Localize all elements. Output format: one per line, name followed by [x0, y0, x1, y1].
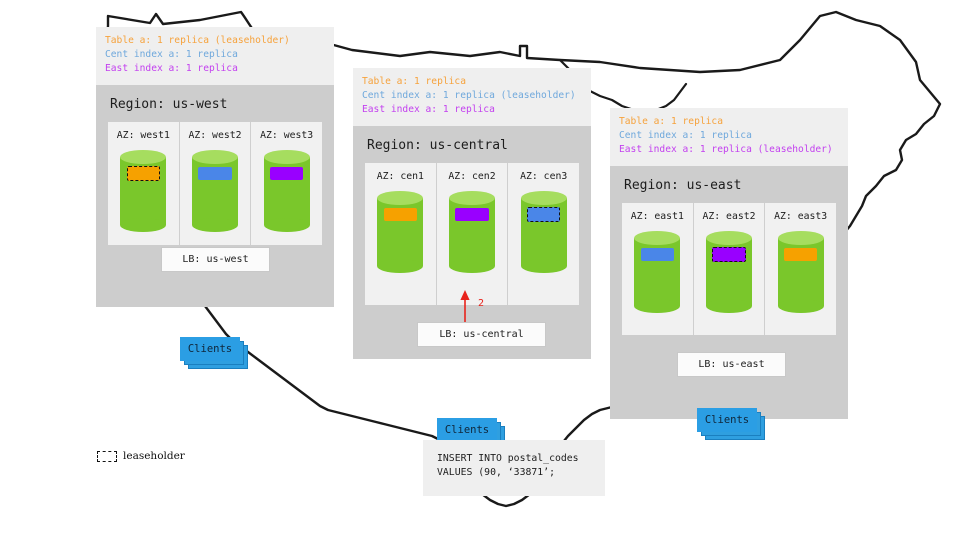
replica-bar — [455, 208, 488, 221]
node-cylinder-east2[interactable] — [706, 231, 752, 313]
node-cylinder-cen2[interactable] — [449, 191, 495, 273]
cylinder-top — [449, 191, 495, 205]
az-label-cen2: AZ: cen2 — [448, 171, 495, 182]
legend-line-table: Table a: 1 replica — [362, 75, 582, 89]
az-cell-west1[interactable]: AZ: west1 — [108, 122, 179, 245]
legend-line-cent-index: Cent index a: 1 replica — [105, 48, 325, 62]
cylinder-top — [706, 231, 752, 245]
region-title-us-west: Region: us-west — [96, 85, 334, 122]
cylinder-top — [120, 150, 166, 164]
legend-line-east-index: East index a: 1 replica — [362, 103, 582, 117]
clients-sheet-front: Clients — [180, 337, 240, 361]
clients-label: Clients — [698, 409, 756, 431]
load-balancer-us-central[interactable]: LB: us-central — [417, 322, 546, 347]
arrow-label-2: 2 — [478, 298, 484, 309]
cylinder-bottom — [634, 299, 680, 313]
az-cell-cen1[interactable]: AZ: cen1 — [365, 163, 436, 305]
cylinder-top — [778, 231, 824, 245]
clients-stack-us-west[interactable]: Clients — [180, 337, 248, 369]
cylinder-bottom — [377, 259, 423, 273]
region-title-us-central: Region: us-central — [353, 126, 591, 163]
clients-label: Clients — [438, 419, 496, 441]
az-label-west1: AZ: west1 — [117, 130, 170, 141]
diagram-canvas: Table a: 1 replica (leaseholder) Cent in… — [0, 0, 960, 540]
az-cell-west3[interactable]: AZ: west3 — [250, 122, 322, 245]
cylinder-bottom — [264, 218, 310, 232]
legend-line-east-index: East index a: 1 replica (leaseholder) — [619, 143, 839, 157]
az-cell-east1[interactable]: AZ: east1 — [622, 203, 693, 335]
region-panel-us-central: Table a: 1 replica Cent index a: 1 repli… — [353, 68, 591, 359]
replica-bar — [384, 208, 417, 221]
node-cylinder-east3[interactable] — [778, 231, 824, 313]
node-cylinder-west3[interactable] — [264, 150, 310, 232]
replica-bar — [270, 167, 303, 180]
legend-line-table: Table a: 1 replica (leaseholder) — [105, 34, 325, 48]
legend-line-table: Table a: 1 replica — [619, 115, 839, 129]
region-panel-us-west: Table a: 1 replica (leaseholder) Cent in… — [96, 27, 334, 307]
az-label-east1: AZ: east1 — [631, 211, 684, 222]
replica-legend-us-central: Table a: 1 replica Cent index a: 1 repli… — [353, 68, 591, 126]
load-balancer-us-east[interactable]: LB: us-east — [677, 352, 786, 377]
clients-stack-us-east[interactable]: Clients — [697, 408, 765, 440]
replica-bar-leaseholder — [127, 166, 160, 181]
cylinder-bottom — [449, 259, 495, 273]
dashed-rectangle-icon — [97, 451, 117, 462]
az-cell-east2[interactable]: AZ: east2 — [693, 203, 765, 335]
az-label-east3: AZ: east3 — [774, 211, 827, 222]
cylinder-top — [264, 150, 310, 164]
replica-bar-leaseholder — [712, 247, 745, 262]
az-cell-east3[interactable]: AZ: east3 — [764, 203, 836, 335]
node-cylinder-cen1[interactable] — [377, 191, 423, 273]
node-cylinder-east1[interactable] — [634, 231, 680, 313]
az-row-us-west: AZ: west1 AZ: west2 — [108, 122, 322, 245]
cylinder-top — [192, 150, 238, 164]
az-cell-cen2[interactable]: AZ: cen2 — [436, 163, 508, 305]
cylinder-bottom — [192, 218, 238, 232]
clients-label: Clients — [181, 338, 239, 360]
region-body-us-central: Region: us-central AZ: cen1 AZ: cen2 — [353, 126, 591, 359]
replica-legend-us-west: Table a: 1 replica (leaseholder) Cent in… — [96, 27, 334, 85]
legend-line-east-index: East index a: 1 replica — [105, 62, 325, 76]
load-balancer-us-west[interactable]: LB: us-west — [161, 247, 270, 272]
replica-bar-leaseholder — [527, 207, 560, 222]
clients-sheet-front: Clients — [437, 418, 497, 442]
region-body-us-west: Region: us-west AZ: west1 AZ: west2 — [96, 85, 334, 307]
replica-bar — [641, 248, 674, 261]
az-label-cen1: AZ: cen1 — [377, 171, 424, 182]
az-label-west2: AZ: west2 — [188, 130, 241, 141]
cylinder-bottom — [120, 218, 166, 232]
az-label-west3: AZ: west3 — [260, 130, 313, 141]
cylinder-top — [377, 191, 423, 205]
leaseholder-legend: leaseholder — [97, 450, 185, 462]
az-cell-west2[interactable]: AZ: west2 — [179, 122, 251, 245]
replica-bar — [784, 248, 817, 261]
az-label-east2: AZ: east2 — [702, 211, 755, 222]
sql-statement-note: INSERT INTO postal_codes VALUES (90, ‘33… — [423, 440, 605, 496]
replica-bar — [198, 167, 231, 180]
node-cylinder-west2[interactable] — [192, 150, 238, 232]
node-cylinder-cen3[interactable] — [521, 191, 567, 273]
cylinder-bottom — [778, 299, 824, 313]
region-title-us-east: Region: us-east — [610, 166, 848, 203]
node-cylinder-west1[interactable] — [120, 150, 166, 232]
az-row-us-east: AZ: east1 AZ: east2 — [622, 203, 836, 335]
clients-sheet-front: Clients — [697, 408, 757, 432]
cylinder-bottom — [706, 299, 752, 313]
cylinder-top — [521, 191, 567, 205]
az-row-us-central: AZ: cen1 AZ: cen2 — [365, 163, 579, 305]
cylinder-top — [634, 231, 680, 245]
region-panel-us-east: Table a: 1 replica Cent index a: 1 repli… — [610, 108, 848, 419]
legend-line-cent-index: Cent index a: 1 replica (leaseholder) — [362, 89, 582, 103]
az-label-cen3: AZ: cen3 — [520, 171, 567, 182]
leaseholder-legend-label: leaseholder — [123, 450, 185, 462]
az-cell-cen3[interactable]: AZ: cen3 — [507, 163, 579, 305]
legend-line-cent-index: Cent index a: 1 replica — [619, 129, 839, 143]
cylinder-bottom — [521, 259, 567, 273]
replica-legend-us-east: Table a: 1 replica Cent index a: 1 repli… — [610, 108, 848, 166]
region-body-us-east: Region: us-east AZ: east1 AZ: east2 — [610, 166, 848, 419]
